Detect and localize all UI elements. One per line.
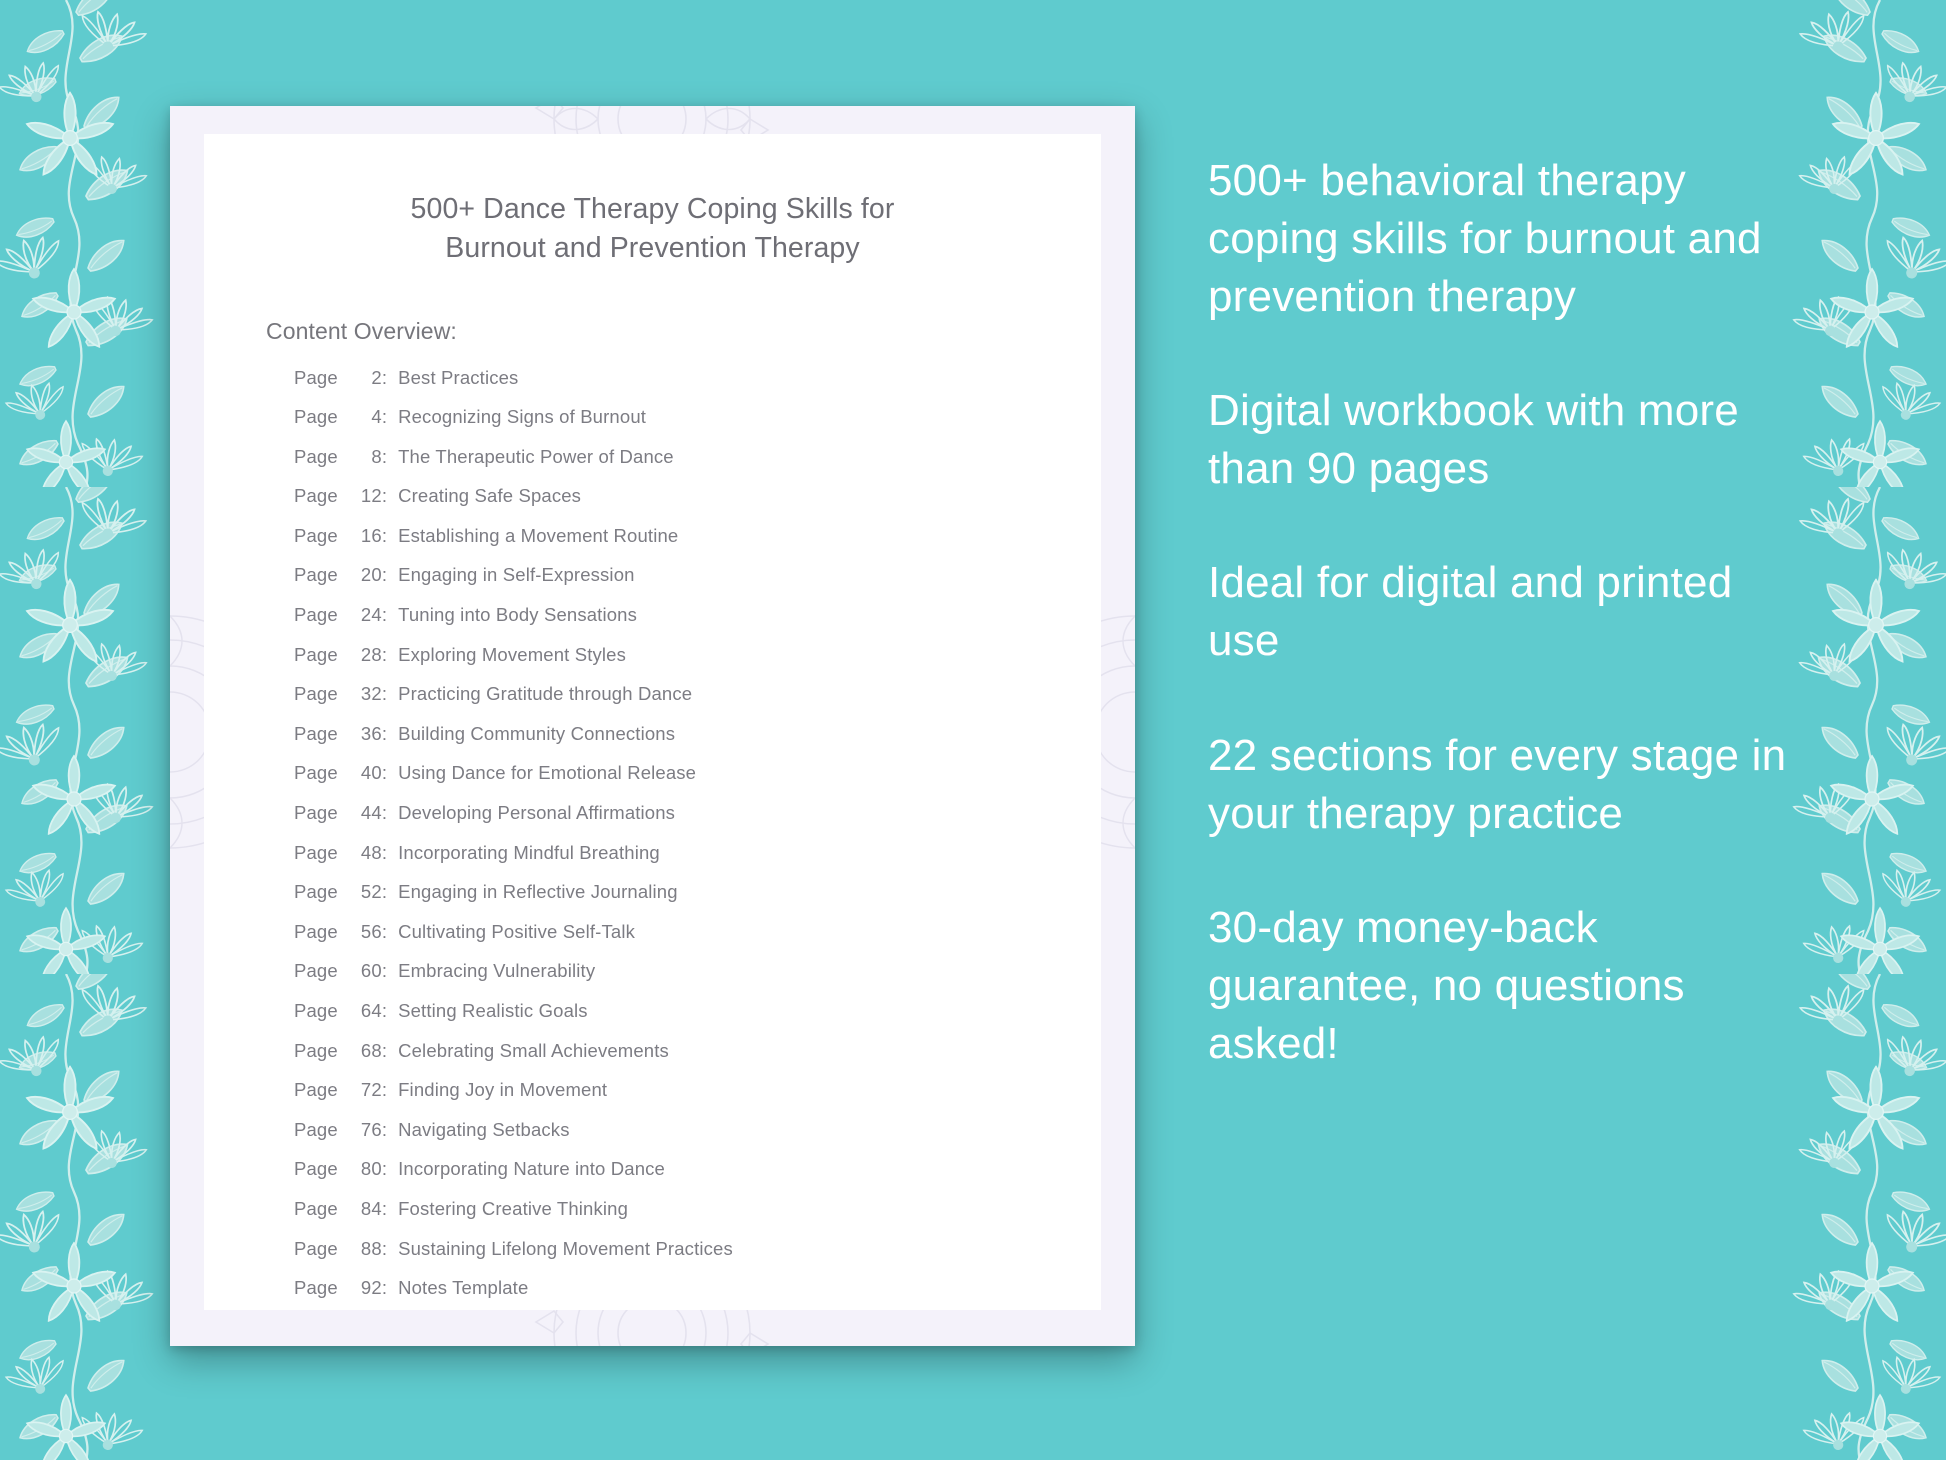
table-of-contents: Page2:Best PracticesPage4:Recognizing Si… xyxy=(294,367,1101,1311)
toc-page-word: Page xyxy=(294,762,338,784)
toc-page-word: Page xyxy=(294,1277,338,1299)
floral-vine-icon xyxy=(0,487,190,974)
toc-page-word: Page xyxy=(294,446,338,468)
toc-entry: Page32:Practicing Gratitude through Danc… xyxy=(294,683,1101,723)
toc-entry-label: Finding Joy in Movement xyxy=(398,1079,607,1101)
toc-entry: Page80:Incorporating Nature into Dance xyxy=(294,1158,1101,1198)
toc-entry-label: The Therapeutic Power of Dance xyxy=(398,446,674,468)
toc-entry-label: Notes Template xyxy=(398,1277,528,1299)
toc-entry-label: Establishing a Movement Routine xyxy=(398,525,678,547)
toc-page-word: Page xyxy=(294,1119,338,1141)
toc-entry: Page84:Fostering Creative Thinking xyxy=(294,1198,1101,1238)
toc-page-word: Page xyxy=(294,1079,338,1101)
toc-entry-label: Building Community Connections xyxy=(398,723,675,745)
marketing-column: 500+ behavioral therapy coping skills fo… xyxy=(1208,152,1808,1073)
toc-entry: Page68:Celebrating Small Achievements xyxy=(294,1040,1101,1080)
toc-colon: : xyxy=(382,406,387,428)
toc-page-number: 16 xyxy=(344,525,382,547)
toc-entry: Page12:Creating Safe Spaces xyxy=(294,485,1101,525)
toc-colon: : xyxy=(382,1238,387,1260)
toc-entry-label: Navigating Setbacks xyxy=(398,1119,570,1141)
toc-page-number: 28 xyxy=(344,644,382,666)
toc-colon: : xyxy=(382,1277,387,1299)
toc-page-word: Page xyxy=(294,525,338,547)
toc-entry: Page24:Tuning into Body Sensations xyxy=(294,604,1101,644)
toc-entry-label: Developing Personal Affirmations xyxy=(398,802,675,824)
toc-colon: : xyxy=(382,723,387,745)
toc-page-number: 72 xyxy=(344,1079,382,1101)
toc-page-word: Page xyxy=(294,564,338,586)
floral-vine-icon xyxy=(0,0,190,487)
toc-entry: Page56:Cultivating Positive Self-Talk xyxy=(294,921,1101,961)
toc-page-number: 8 xyxy=(344,446,382,468)
toc-entry-label: Embracing Vulnerability xyxy=(398,960,595,982)
toc-colon: : xyxy=(382,604,387,626)
page-title: 500+ Dance Therapy Coping Skills for Bur… xyxy=(204,190,1101,268)
toc-page-number: 44 xyxy=(344,802,382,824)
toc-entry-label: Celebrating Small Achievements xyxy=(398,1040,669,1062)
toc-entry: Page44:Developing Personal Affirmations xyxy=(294,802,1101,842)
toc-page-number: 92 xyxy=(344,1277,382,1299)
toc-colon: : xyxy=(382,446,387,468)
toc-page-word: Page xyxy=(294,604,338,626)
toc-colon: : xyxy=(382,1079,387,1101)
toc-entry-label: Exploring Movement Styles xyxy=(398,644,626,666)
toc-entry-label: Incorporating Nature into Dance xyxy=(398,1158,665,1180)
toc-colon: : xyxy=(382,881,387,903)
toc-page-number: 56 xyxy=(344,921,382,943)
toc-page-word: Page xyxy=(294,1198,338,1220)
toc-page-number: 64 xyxy=(344,1000,382,1022)
content-overview-label: Content Overview: xyxy=(266,318,1101,345)
toc-colon: : xyxy=(382,485,387,507)
toc-colon: : xyxy=(382,802,387,824)
toc-page-word: Page xyxy=(294,842,338,864)
toc-colon: : xyxy=(382,1000,387,1022)
toc-page-word: Page xyxy=(294,406,338,428)
toc-colon: : xyxy=(382,1119,387,1141)
toc-page-word: Page xyxy=(294,485,338,507)
toc-entry: Page48:Incorporating Mindful Breathing xyxy=(294,842,1101,882)
toc-entry-label: Creating Safe Spaces xyxy=(398,485,581,507)
toc-page-number: 84 xyxy=(344,1198,382,1220)
page-title-line-1: 500+ Dance Therapy Coping Skills for xyxy=(274,190,1031,229)
toc-entry-label: Setting Realistic Goals xyxy=(398,1000,588,1022)
marketing-block: 22 sections for every stage in your ther… xyxy=(1208,727,1808,843)
toc-colon: : xyxy=(382,1040,387,1062)
toc-entry-label: Tuning into Body Sensations xyxy=(398,604,637,626)
toc-page-word: Page xyxy=(294,921,338,943)
toc-colon: : xyxy=(382,842,387,864)
toc-entry: Page40:Using Dance for Emotional Release xyxy=(294,762,1101,802)
toc-entry-label: Cultivating Positive Self-Talk xyxy=(398,921,635,943)
toc-page-number: 68 xyxy=(344,1040,382,1062)
toc-entry: Page72:Finding Joy in Movement xyxy=(294,1079,1101,1119)
toc-entry-label: Sustaining Lifelong Movement Practices xyxy=(398,1238,733,1260)
toc-page-word: Page xyxy=(294,960,338,982)
toc-entry-label: Fostering Creative Thinking xyxy=(398,1198,628,1220)
toc-entry: Page36:Building Community Connections xyxy=(294,723,1101,763)
toc-page-word: Page xyxy=(294,881,338,903)
toc-colon: : xyxy=(382,367,387,389)
toc-entry-label: Recognizing Signs of Burnout xyxy=(398,406,646,428)
toc-entry-label: Incorporating Mindful Breathing xyxy=(398,842,660,864)
toc-entry: Page92:Notes Template xyxy=(294,1277,1101,1310)
toc-entry: Page2:Best Practices xyxy=(294,367,1101,407)
toc-entry-label: Practicing Gratitude through Dance xyxy=(398,683,692,705)
toc-entry: Page28:Exploring Movement Styles xyxy=(294,644,1101,684)
toc-colon: : xyxy=(382,921,387,943)
toc-entry: Page88:Sustaining Lifelong Movement Prac… xyxy=(294,1238,1101,1278)
marketing-block: 500+ behavioral therapy coping skills fo… xyxy=(1208,152,1808,326)
marketing-block: Ideal for digital and printed use xyxy=(1208,554,1808,670)
toc-page-word: Page xyxy=(294,1238,338,1260)
toc-colon: : xyxy=(382,960,387,982)
toc-entry-label: Engaging in Reflective Journaling xyxy=(398,881,678,903)
toc-entry: Page76:Navigating Setbacks xyxy=(294,1119,1101,1159)
toc-page-word: Page xyxy=(294,1158,338,1180)
toc-page-number: 60 xyxy=(344,960,382,982)
toc-page-word: Page xyxy=(294,644,338,666)
toc-page-number: 4 xyxy=(344,406,382,428)
toc-page-word: Page xyxy=(294,1000,338,1022)
toc-colon: : xyxy=(382,564,387,586)
marketing-block: Digital workbook with more than 90 pages xyxy=(1208,382,1808,498)
marketing-block: 30-day money-back guarantee, no question… xyxy=(1208,899,1808,1073)
toc-colon: : xyxy=(382,762,387,784)
page-title-line-2: Burnout and Prevention Therapy xyxy=(274,229,1031,268)
toc-page-word: Page xyxy=(294,683,338,705)
toc-entry-label: Using Dance for Emotional Release xyxy=(398,762,696,784)
toc-page-number: 24 xyxy=(344,604,382,626)
toc-entry: Page64:Setting Realistic Goals xyxy=(294,1000,1101,1040)
toc-entry: Page20:Engaging in Self-Expression xyxy=(294,564,1101,604)
floral-vine-icon xyxy=(0,974,190,1460)
toc-page-number: 36 xyxy=(344,723,382,745)
toc-page-number: 48 xyxy=(344,842,382,864)
toc-colon: : xyxy=(382,525,387,547)
toc-entry: Page60:Embracing Vulnerability xyxy=(294,960,1101,1000)
toc-page-number: 32 xyxy=(344,683,382,705)
toc-entry: Page8:The Therapeutic Power of Dance xyxy=(294,446,1101,486)
toc-page-number: 12 xyxy=(344,485,382,507)
document-card: 500+ Dance Therapy Coping Skills for Bur… xyxy=(170,106,1135,1346)
toc-page-word: Page xyxy=(294,367,338,389)
toc-entry: Page52:Engaging in Reflective Journaling xyxy=(294,881,1101,921)
toc-entry-label: Engaging in Self-Expression xyxy=(398,564,634,586)
toc-page-number: 88 xyxy=(344,1238,382,1260)
toc-entry: Page16:Establishing a Movement Routine xyxy=(294,525,1101,565)
toc-colon: : xyxy=(382,644,387,666)
toc-page-number: 40 xyxy=(344,762,382,784)
toc-colon: : xyxy=(382,1198,387,1220)
toc-page-number: 52 xyxy=(344,881,382,903)
toc-page-number: 76 xyxy=(344,1119,382,1141)
toc-page-word: Page xyxy=(294,1040,338,1062)
floral-border-left xyxy=(0,0,190,1460)
document-page: 500+ Dance Therapy Coping Skills for Bur… xyxy=(204,134,1101,1310)
toc-colon: : xyxy=(382,683,387,705)
toc-page-word: Page xyxy=(294,802,338,824)
toc-entry-label: Best Practices xyxy=(398,367,518,389)
toc-page-word: Page xyxy=(294,723,338,745)
toc-entry: Page4:Recognizing Signs of Burnout xyxy=(294,406,1101,446)
toc-page-number: 80 xyxy=(344,1158,382,1180)
toc-colon: : xyxy=(382,1158,387,1180)
toc-page-number: 2 xyxy=(344,367,382,389)
toc-page-number: 20 xyxy=(344,564,382,586)
